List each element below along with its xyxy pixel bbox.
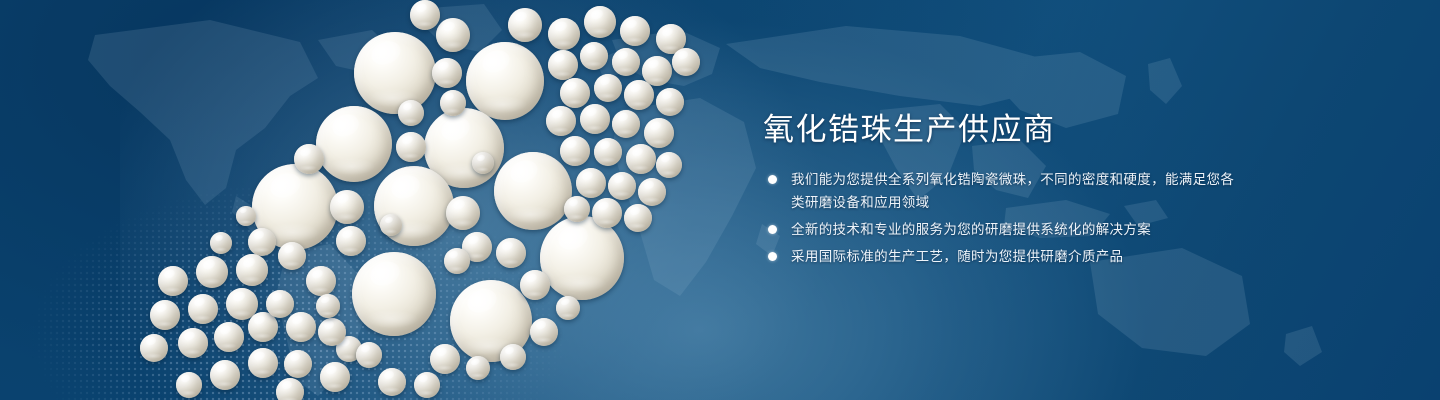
list-item: 采用国际标准的生产工艺，随时为您提供研磨介质产品: [765, 245, 1235, 268]
bullet-dot-icon: [768, 225, 777, 234]
bead-cluster-glow: [120, 0, 820, 400]
halftone-dot-pattern: [0, 120, 660, 400]
hero-banner: 氧化锆珠生产供应商 我们能为您提供全系列氧化锆陶瓷微珠，不同的密度和硬度，能满足…: [0, 0, 1440, 400]
banner-content: 氧化锆珠生产供应商 我们能为您提供全系列氧化锆陶瓷微珠，不同的密度和硬度，能满足…: [763, 0, 1283, 400]
feature-list: 我们能为您提供全系列氧化锆陶瓷微珠，不同的密度和硬度，能满足您各类研磨设备和应用…: [765, 168, 1235, 272]
list-item-label: 全新的技术和专业的服务为您的研磨提供系统化的解决方案: [791, 218, 1235, 241]
list-item-label: 采用国际标准的生产工艺，随时为您提供研磨介质产品: [791, 245, 1235, 268]
page-title: 氧化锆珠生产供应商: [763, 110, 1056, 150]
bullet-dot-icon: [768, 252, 777, 261]
bullet-dot-icon: [768, 175, 777, 184]
list-item: 全新的技术和专业的服务为您的研磨提供系统化的解决方案: [765, 218, 1235, 241]
zirconia-bead-cluster: [0, 0, 760, 400]
list-item-label: 我们能为您提供全系列氧化锆陶瓷微珠，不同的密度和硬度，能满足您各类研磨设备和应用…: [791, 168, 1235, 214]
list-item: 我们能为您提供全系列氧化锆陶瓷微珠，不同的密度和硬度，能满足您各类研磨设备和应用…: [765, 168, 1235, 214]
